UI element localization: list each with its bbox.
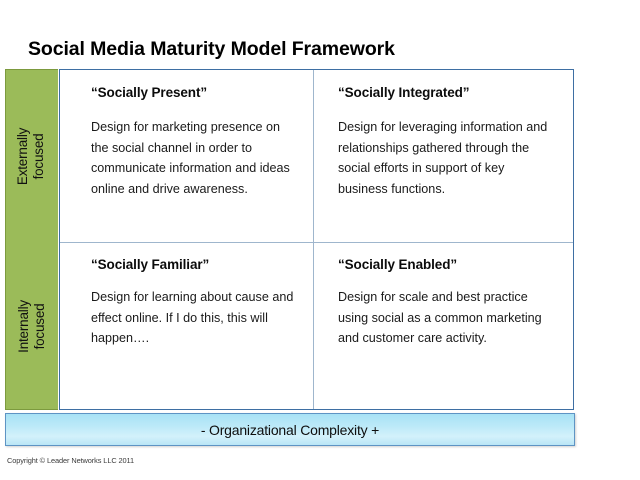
axis-label-organizational-complexity: - Organizational Complexity + <box>201 422 379 438</box>
axis-segment-internally-focused: Internally focused <box>6 243 58 409</box>
quadrant-heading: “Socially Integrated” <box>338 85 556 100</box>
quadrant-socially-present: “Socially Present” Design for marketing … <box>59 69 314 243</box>
horizontal-complexity-axis: - Organizational Complexity + <box>5 413 575 446</box>
quadrant-heading: “Socially Enabled” <box>338 257 556 272</box>
quadrant-heading: “Socially Familiar” <box>91 257 295 272</box>
quadrant-socially-integrated: “Socially Integrated” Design for leverag… <box>314 69 574 243</box>
quadrant-description: Design for marketing presence on the soc… <box>91 117 295 199</box>
vertical-focus-axis: Externally focused Internally focused <box>5 69 59 410</box>
maturity-matrix: “Socially Present” Design for marketing … <box>58 68 575 411</box>
page-title: Social Media Maturity Model Framework <box>28 38 395 61</box>
copyright-notice: Copyright © Leader Networks LLC 2011 <box>7 456 134 465</box>
axis-label-externally-focused: Externally focused <box>16 128 49 185</box>
axis-label-internally-focused: Internally focused <box>16 300 49 353</box>
axis-segment-externally-focused: Externally focused <box>6 70 58 243</box>
quadrant-description: Design for leveraging information and re… <box>338 117 556 199</box>
quadrant-heading: “Socially Present” <box>91 85 295 100</box>
quadrant-description: Design for learning about cause and effe… <box>91 287 295 349</box>
quadrant-description: Design for scale and best practice using… <box>338 287 556 349</box>
quadrant-socially-enabled: “Socially Enabled” Design for scale and … <box>314 243 574 410</box>
quadrant-socially-familiar: “Socially Familiar” Design for learning … <box>59 243 314 410</box>
